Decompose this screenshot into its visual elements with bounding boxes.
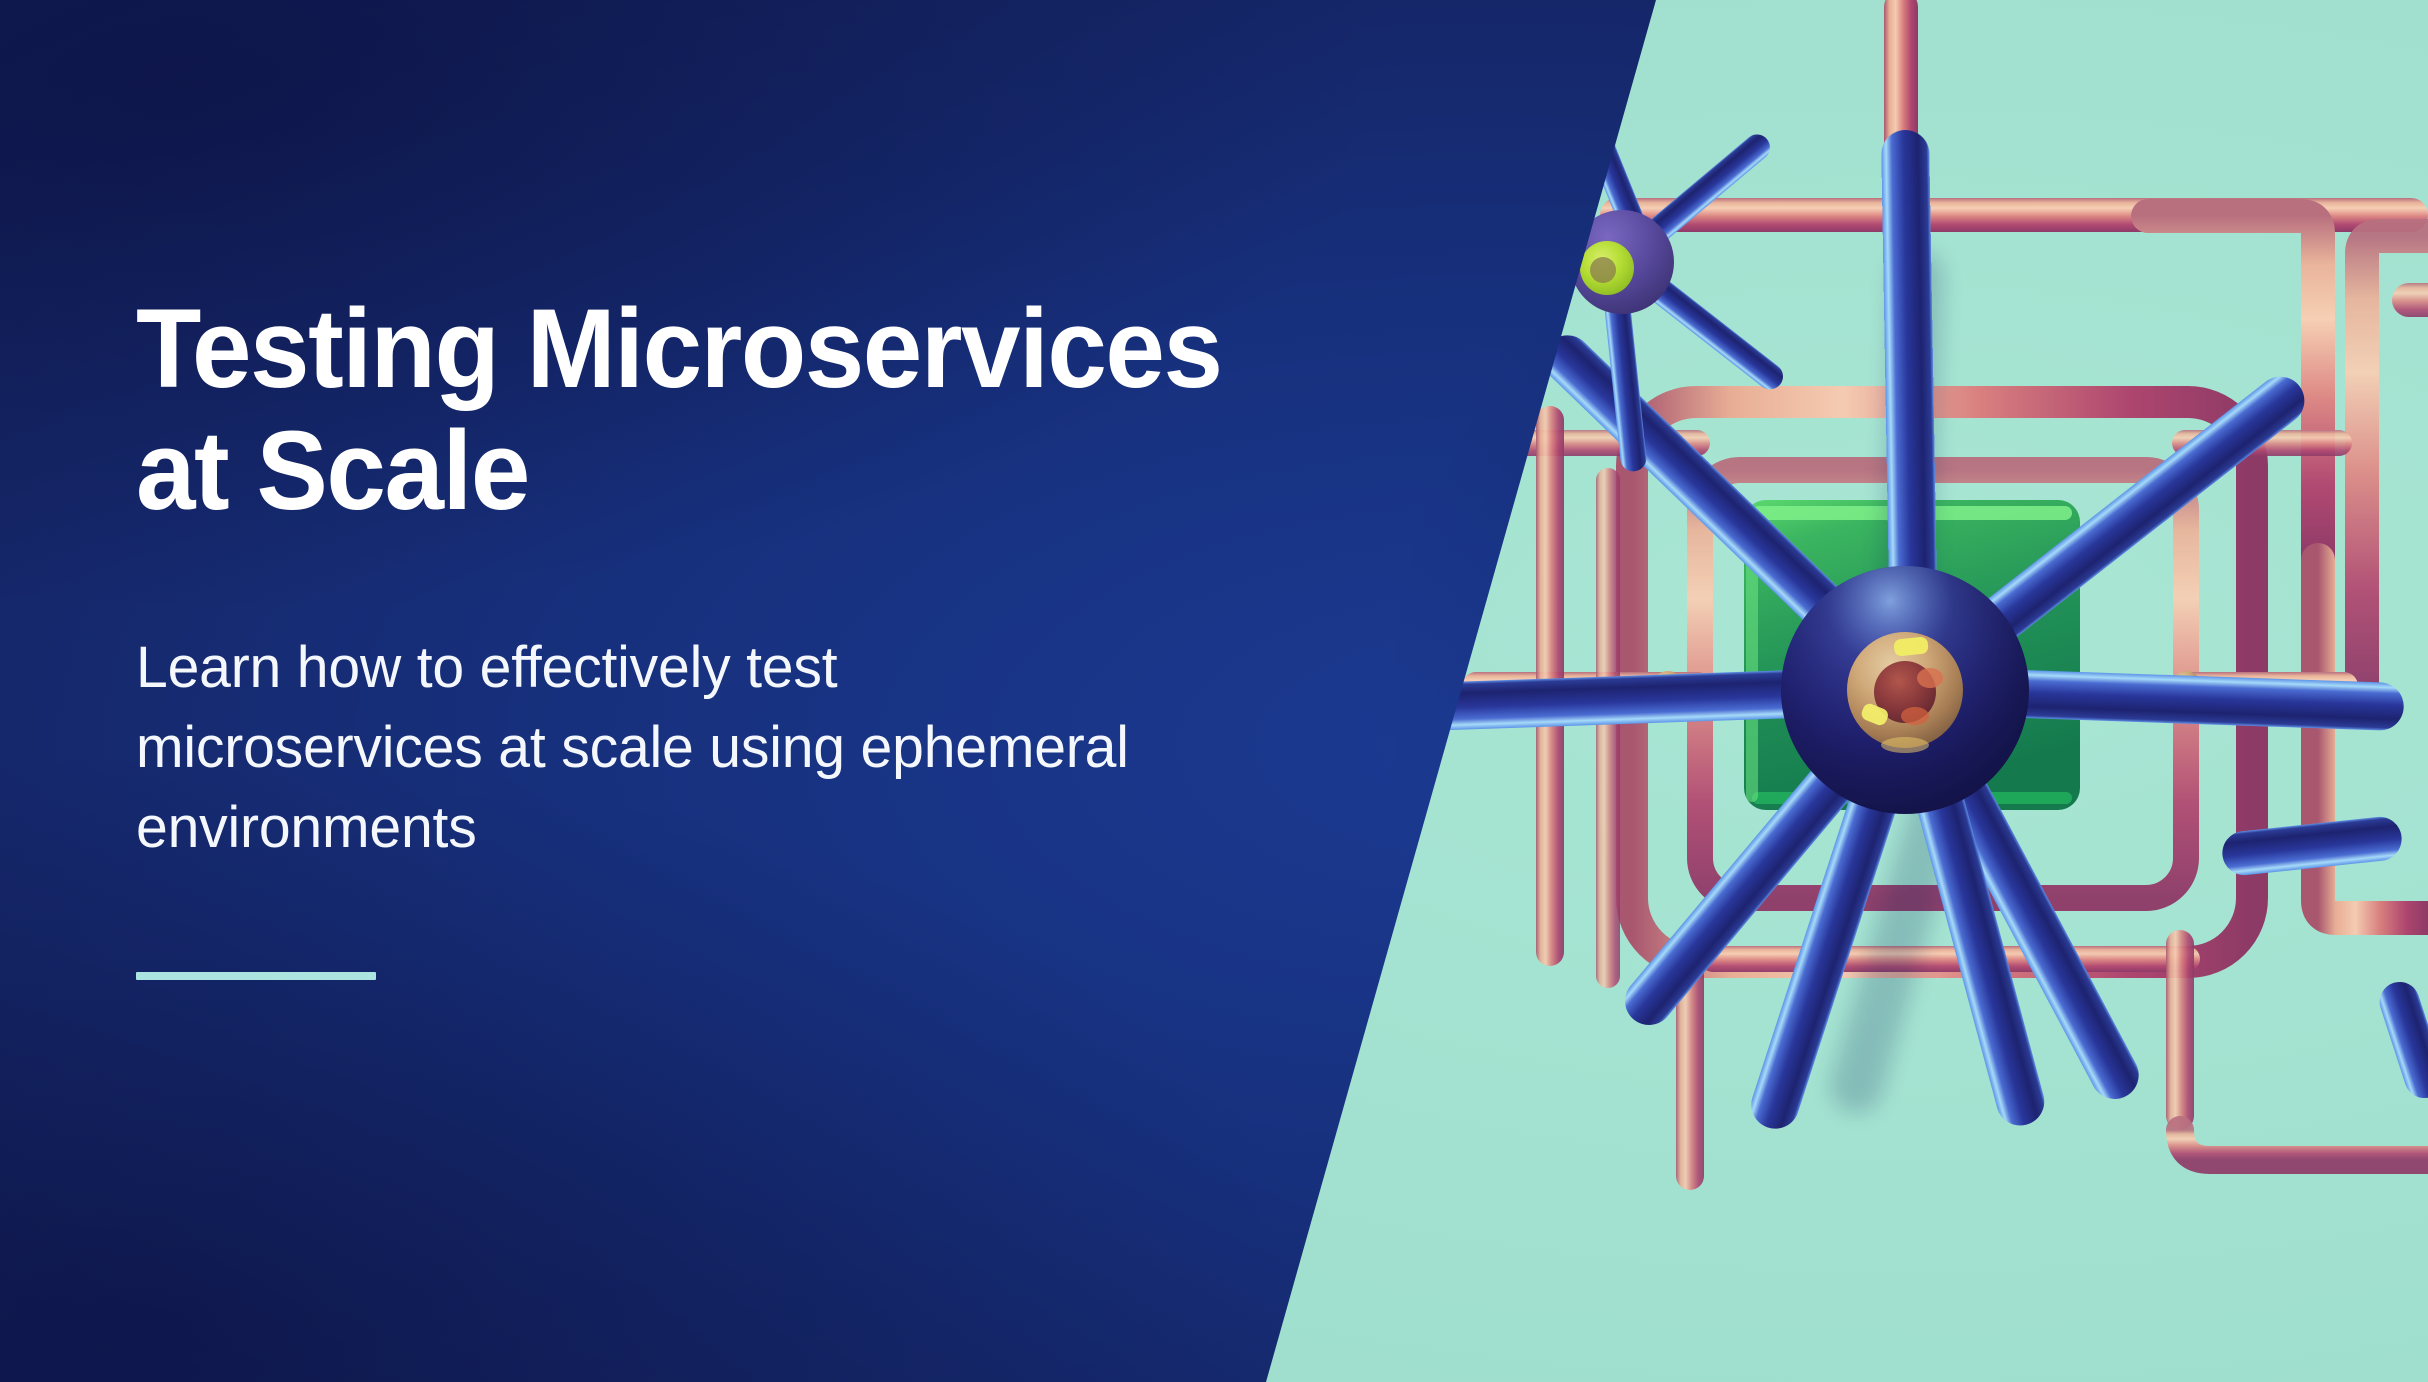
page-title: Testing Microservices at Scale: [136, 288, 1435, 532]
accent-rule: [136, 972, 376, 980]
page-subtitle: Learn how to effectively test microservi…: [136, 628, 1141, 868]
spoke-detached-corner: [2374, 977, 2428, 1103]
hero-banner: Testing Microservices at Scale Learn how…: [0, 0, 2428, 1382]
text-block: Testing Microservices at Scale Learn how…: [136, 288, 1496, 980]
central-hub: [1781, 566, 2029, 814]
